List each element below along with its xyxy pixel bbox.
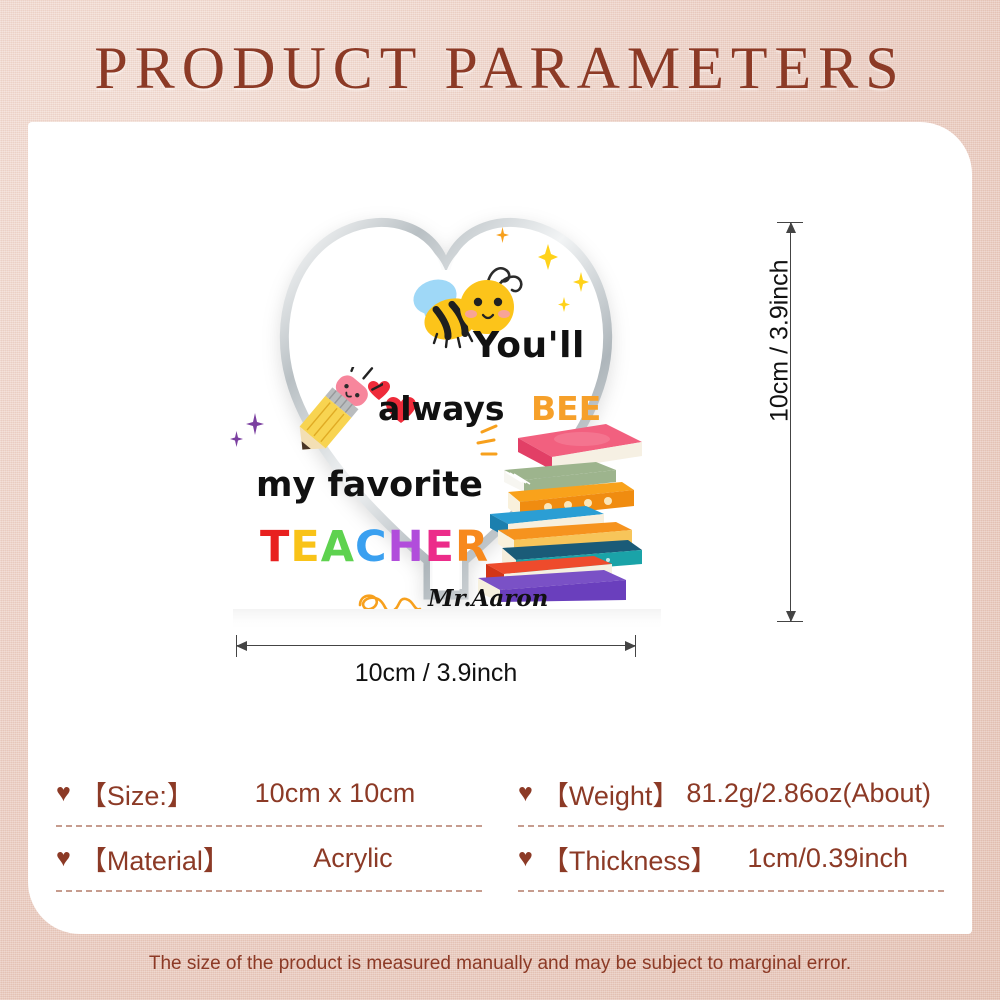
- dim-arrow-up: [786, 222, 796, 233]
- spec-label-thickness: 【Thickness】: [542, 839, 718, 878]
- spec-value-weight: 81.2g/2.86oz(About): [679, 778, 944, 809]
- spec-table: ♥ 【Size:】 10cm x 10cm ♥ 【Weight】 81.2g/2…: [56, 762, 944, 892]
- dimension-height: 10cm / 3.9inch: [728, 222, 858, 622]
- teacher-letter-1: E: [290, 522, 320, 572]
- teacher-letter-6: R: [455, 522, 489, 572]
- sparkle-icon: [538, 244, 558, 270]
- dimension-width: 10cm / 3.9inch: [236, 637, 636, 707]
- spec-row-size: ♥ 【Size:】 10cm x 10cm: [56, 762, 482, 827]
- spec-row-thickness: ♥ 【Thickness】 1cm/0.39inch: [518, 827, 944, 892]
- spec-row-material: ♥ 【Material】 Acrylic: [56, 827, 482, 892]
- plaque-artwork-layer: You'll always BEE my favorite TEACHER Mr…: [228, 217, 664, 617]
- spec-row-weight: ♥ 【Weight】 81.2g/2.86oz(About): [518, 762, 944, 827]
- dim-line-horizontal: [236, 645, 636, 646]
- sparkle-icon: [558, 297, 570, 312]
- plaque-signature: Mr.Aaron: [428, 585, 548, 612]
- page-title: PRODUCT PARAMETERS: [0, 34, 1000, 103]
- teacher-letter-4: H: [388, 522, 425, 572]
- heart-bullet-icon: ♥: [518, 781, 533, 806]
- spec-label-weight: 【Weight】: [542, 774, 680, 813]
- plaque-text-teacher: TEACHER: [260, 522, 489, 572]
- sparkle-icon: [573, 272, 589, 292]
- spec-value-material: Acrylic: [230, 843, 482, 874]
- spec-value-thickness: 1cm/0.39inch: [717, 843, 944, 874]
- spec-value-size: 10cm x 10cm: [194, 778, 482, 809]
- plaque-base: [233, 609, 661, 629]
- sparkle-icon: [496, 227, 509, 243]
- teacher-letter-0: T: [260, 522, 290, 572]
- plaque-text-line3: my favorite: [256, 465, 483, 505]
- book-stack-icon: [476, 412, 646, 602]
- spec-label-size: 【Size:】: [80, 774, 194, 813]
- teacher-letter-5: E: [425, 522, 455, 572]
- product-image-area: You'll always BEE my favorite TEACHER Mr…: [28, 122, 972, 702]
- dimension-height-label: 10cm / 3.9inch: [766, 259, 795, 422]
- spec-label-material: 【Material】: [80, 839, 230, 878]
- pencil-icon: [288, 367, 383, 467]
- sparkle-icon: [230, 431, 243, 447]
- acrylic-heart-plaque: You'll always BEE my favorite TEACHER Mr…: [228, 217, 664, 617]
- heart-bullet-icon: ♥: [56, 846, 71, 871]
- teacher-letter-3: C: [355, 522, 388, 572]
- heart-bullet-icon: ♥: [56, 781, 71, 806]
- teacher-letter-2: A: [321, 522, 355, 572]
- dimension-width-label: 10cm / 3.9inch: [236, 659, 636, 688]
- footer-disclaimer: The size of the product is measured manu…: [0, 953, 1000, 975]
- plaque-text-bee: BEE: [531, 389, 601, 428]
- sparkle-icon: [246, 413, 264, 435]
- dim-arrow-down: [786, 611, 796, 622]
- dim-arrow-left: [236, 641, 247, 651]
- dim-arrow-right: [625, 641, 636, 651]
- heart-bullet-icon: ♥: [518, 846, 533, 871]
- plaque-text-line2: always: [378, 389, 504, 428]
- content-card: You'll always BEE my favorite TEACHER Mr…: [28, 122, 972, 934]
- plaque-text-line1: You'll: [473, 325, 585, 366]
